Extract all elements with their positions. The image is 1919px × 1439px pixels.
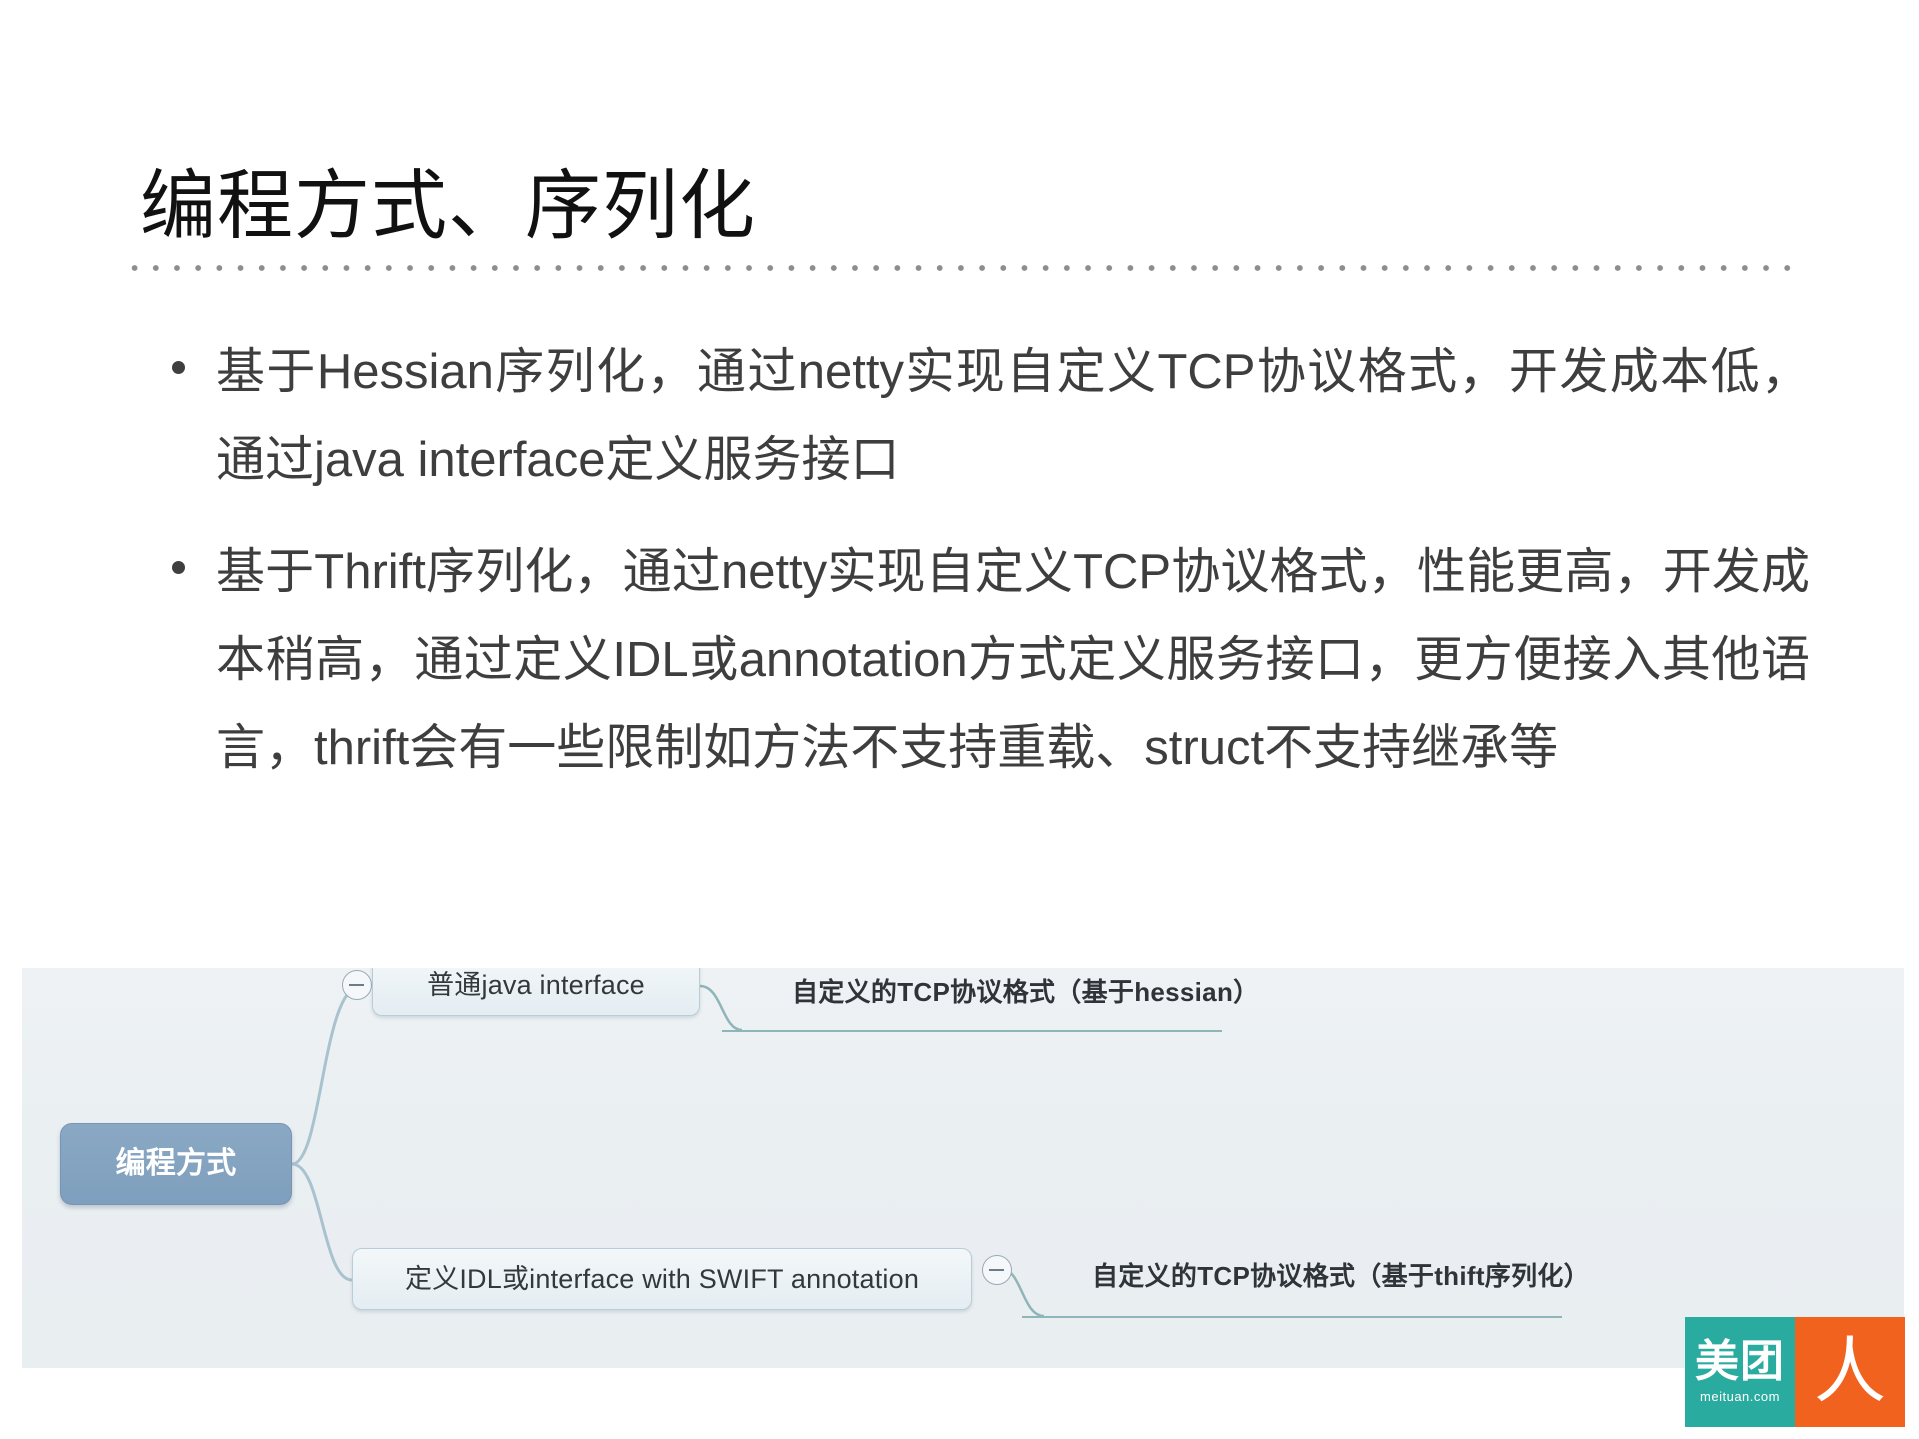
mindmap-node-label: 定义IDL或interface with SWIFT annotation xyxy=(405,1266,919,1293)
mindmap-root-label: 编程方式 xyxy=(116,1149,237,1179)
meituan-logo-en: meituan.com xyxy=(1700,1389,1780,1405)
mindmap-root-node[interactable]: 编程方式 xyxy=(60,1123,292,1205)
list-item: 基于Hessian序列化，通过netty实现自定义TCP协议格式，开发成本低，通… xyxy=(150,328,1810,504)
mindmap-leaf-hessian: 自定义的TCP协议格式（基于hessian） xyxy=(792,972,1259,1009)
bullet-dot-icon xyxy=(172,561,185,574)
mindmap-node-java-interface[interactable]: 普通java interface xyxy=(372,968,700,1016)
mindmap-canvas: 编程方式 普通java interface 自定义的TCP协议格式（基于hess… xyxy=(22,968,1904,1368)
bullet-dot-icon xyxy=(172,361,185,374)
meituan-logo: 美团 meituan.com xyxy=(1685,1317,1795,1427)
list-item: 基于Thrift序列化，通过netty实现自定义TCP协议格式，性能更高，开发成… xyxy=(150,528,1810,792)
title-divider xyxy=(124,262,1804,274)
partner-logo: 人 xyxy=(1795,1317,1905,1427)
mindmap-leaf-thrift: 自定义的TCP协议格式（基于thift序列化） xyxy=(1092,1256,1590,1293)
collapse-toggle-icon-top[interactable] xyxy=(342,970,372,1000)
mindmap-node-label: 普通java interface xyxy=(427,972,645,999)
mindmap-node-idl-swift[interactable]: 定义IDL或interface with SWIFT annotation xyxy=(352,1248,972,1310)
connector-underline-top xyxy=(722,1030,1222,1032)
partner-logo-glyph: 人 xyxy=(1814,1336,1886,1408)
collapse-toggle-icon-bottom[interactable] xyxy=(982,1255,1012,1285)
connector-underline-bottom xyxy=(1022,1316,1562,1318)
logo-group: 美团 meituan.com 人 xyxy=(1685,1317,1905,1427)
meituan-logo-cn: 美团 xyxy=(1695,1339,1785,1385)
bullet-list: 基于Hessian序列化，通过netty实现自定义TCP协议格式，开发成本低，通… xyxy=(150,328,1810,816)
slide-canvas: 编程方式、序列化 基于Hessian序列化，通过netty实现自定义TCP协议格… xyxy=(0,0,1919,1439)
list-item-text: 基于Hessian序列化，通过netty实现自定义TCP协议格式，开发成本低，通… xyxy=(216,328,1810,504)
mindmap-diagram: 编程方式 普通java interface 自定义的TCP协议格式（基于hess… xyxy=(22,968,1904,1368)
page-title: 编程方式、序列化 xyxy=(140,159,756,255)
list-item-text: 基于Thrift序列化，通过netty实现自定义TCP协议格式，性能更高，开发成… xyxy=(216,528,1810,792)
